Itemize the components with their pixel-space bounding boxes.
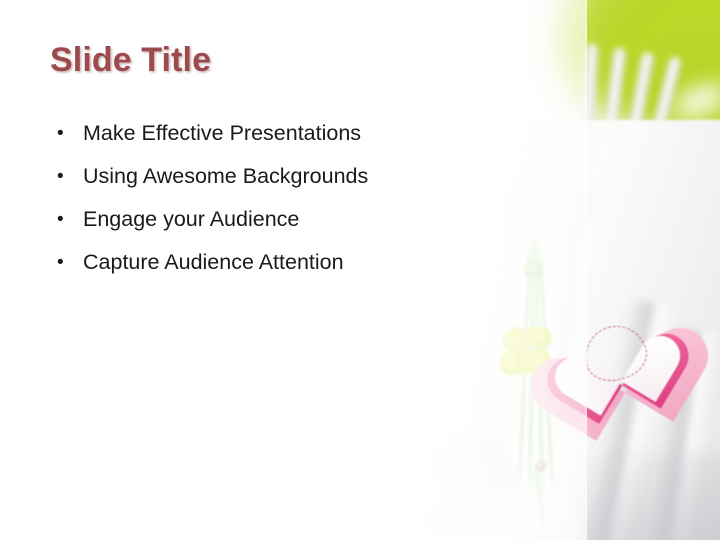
list-item[interactable]: • Engage your Audience — [50, 198, 520, 241]
bullet-point-icon: • — [57, 155, 64, 198]
slide-content: Slide Title • Make Effective Presentatio… — [0, 0, 720, 540]
list-item[interactable]: • Capture Audience Attention — [50, 241, 520, 284]
bullet-point-icon: • — [57, 241, 64, 284]
slide-title[interactable]: Slide Title — [50, 41, 211, 80]
bullet-point-icon: • — [57, 198, 64, 241]
presentation-slide: Slide Title • Make Effective Presentatio… — [0, 0, 720, 540]
list-item-label: Engage your Audience — [83, 207, 299, 231]
list-item-label: Capture Audience Attention — [83, 250, 344, 274]
list-item[interactable]: • Make Effective Presentations — [50, 112, 520, 155]
list-item[interactable]: • Using Awesome Backgrounds — [50, 155, 520, 198]
bullet-point-icon: • — [57, 112, 64, 155]
list-item-label: Make Effective Presentations — [83, 121, 361, 145]
bullet-list: • Make Effective Presentations • Using A… — [50, 112, 520, 284]
list-item-label: Using Awesome Backgrounds — [83, 164, 368, 188]
